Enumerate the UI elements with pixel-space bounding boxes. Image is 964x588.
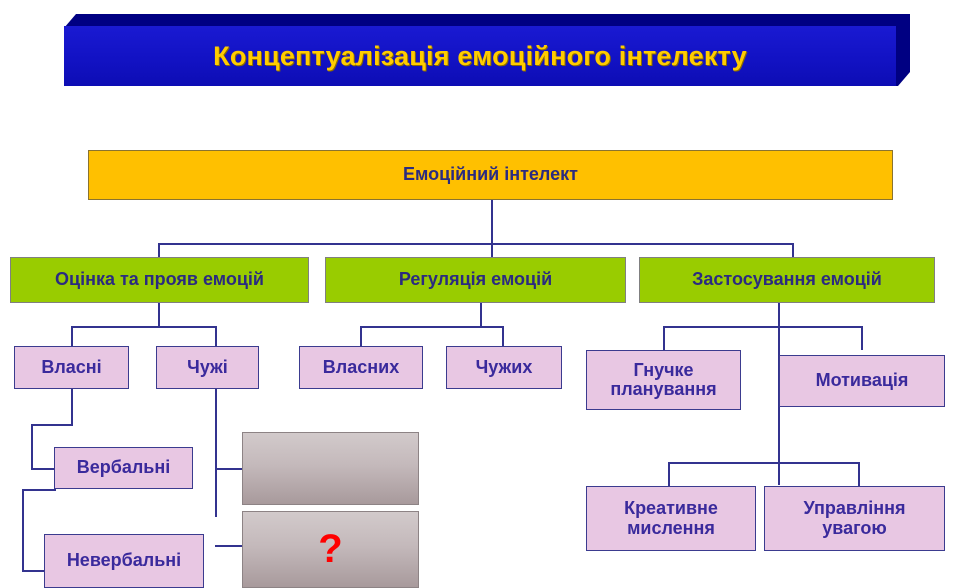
node-application-label: Застосування емоцій [692,270,882,289]
connector-assessment-drop-1 [71,326,73,346]
node-regulate-own-label: Власних [323,358,399,377]
connector-application-drop-2 [861,326,863,350]
node-others-emotions[interactable]: Чужі [156,346,259,389]
node-verbal[interactable]: Вербальні [54,447,193,489]
connector-nonverbal-elbow-top [22,489,56,491]
connector-application-drop-3 [668,462,670,486]
node-others-label: Чужі [187,358,228,377]
node-hidden-placeholder-1[interactable] [242,432,419,505]
question-mark-icon: ? [318,528,342,571]
connector-regulation-drop-1 [360,326,362,346]
node-motivation-label: Мотивація [816,371,909,390]
banner-face: Концептуалізація емоційного інтелекту [64,26,896,86]
node-attention-management-line2: увагою [822,519,886,538]
node-own-label: Власні [41,358,101,377]
connector-regulation-drop-2 [502,326,504,346]
node-regulation-label: Регуляція емоцій [399,270,552,289]
connector-root-stem [491,200,493,244]
connector-assessment-stem [158,303,160,327]
connector-verbal-arm [31,468,56,470]
node-assessment-label: Оцінка та прояв емоцій [55,270,264,289]
node-flexible-planning-line1: Гнучке [633,361,693,380]
node-flexible-planning[interactable]: Гнучке планування [586,350,741,410]
connector-root-drop-1 [158,243,160,258]
node-hidden-placeholder-2[interactable]: ? [242,511,419,588]
node-attention-management[interactable]: Управління увагою [764,486,945,551]
connector-assessment-drop-2 [215,326,217,346]
connector-regulation-bus [360,326,504,328]
connector-others-spine [215,389,217,517]
connector-assessment-bus [71,326,217,328]
node-nonverbal-label: Невербальні [67,551,181,570]
node-regulate-others[interactable]: Чужих [446,346,562,389]
connector-root-bus [158,243,794,245]
node-root-emotional-intelligence[interactable]: Емоційний інтелект [88,150,893,200]
connector-application-bus-upper [663,326,863,328]
node-creative-thinking[interactable]: Креативне мислення [586,486,756,551]
node-regulate-others-label: Чужих [476,358,533,377]
connector-nonverbal-drop [22,489,24,572]
slide-canvas: Концептуалізація емоційного інтелекту Ем… [0,0,964,588]
node-creative-thinking-line2: мислення [627,519,715,538]
connector-others-arm-2 [215,545,243,547]
node-creative-thinking-line1: Креативне [624,499,718,518]
node-emotion-application[interactable]: Застосування емоцій [639,257,935,303]
connector-application-drop-4 [858,462,860,486]
connector-verbal-drop [31,424,33,469]
connector-application-drop-1 [663,326,665,350]
connector-own-stem [71,389,73,425]
connector-root-drop-2 [491,243,493,258]
node-own-emotions[interactable]: Власні [14,346,129,389]
node-verbal-label: Вербальні [77,458,171,477]
node-motivation[interactable]: Мотивація [779,355,945,407]
connector-others-arm-1 [215,468,243,470]
node-emotion-regulation[interactable]: Регуляція емоцій [325,257,626,303]
node-assessment-and-expression[interactable]: Оцінка та прояв емоцій [10,257,309,303]
title-banner: Концептуалізація емоційного інтелекту [64,14,910,86]
connector-regulation-stem [480,303,482,327]
node-regulate-own[interactable]: Власних [299,346,423,389]
connector-root-drop-3 [792,243,794,258]
connector-application-bus-lower [668,462,860,464]
node-root-label: Емоційний інтелект [403,165,578,184]
slide-title: Концептуалізація емоційного інтелекту [213,41,747,72]
node-flexible-planning-line2: планування [610,380,716,399]
connector-own-elbow-top [31,424,73,426]
node-attention-management-line1: Управління [804,499,906,518]
node-nonverbal[interactable]: Невербальні [44,534,204,588]
